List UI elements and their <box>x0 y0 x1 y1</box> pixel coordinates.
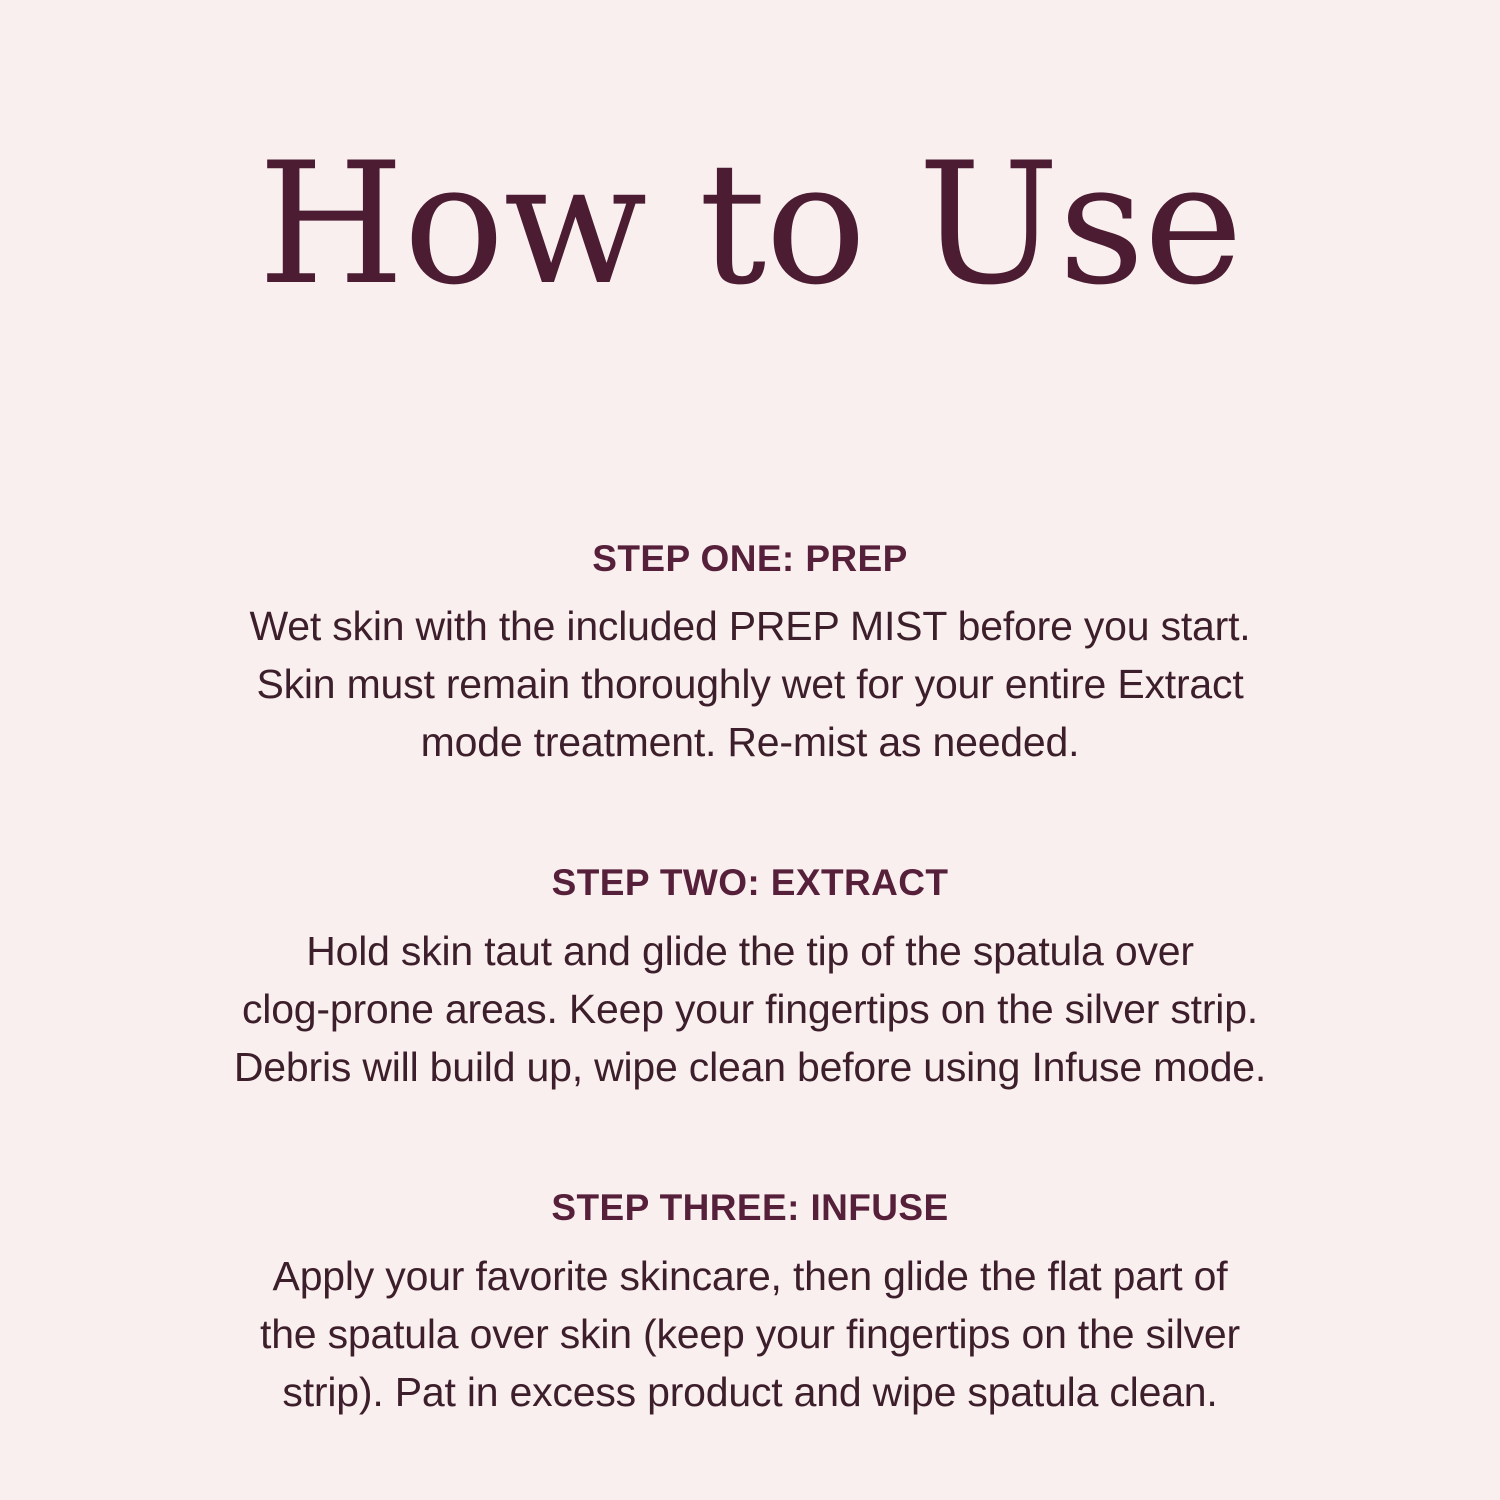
step-one-heading: STEP ONE: PREP <box>130 539 1370 580</box>
page-title: How to Use <box>258 140 1242 308</box>
step-block-one: STEP ONE: PREP Wet skin with the include… <box>130 539 1370 772</box>
step-two-body-line-1: Hold skin taut and glide the tip of the … <box>130 922 1370 980</box>
step-three-body-line-3: strip). Pat in excess product and wipe s… <box>130 1363 1370 1421</box>
step-one-body: Wet skin with the included PREP MIST bef… <box>130 597 1370 771</box>
step-one-body-line-2: Skin must remain thoroughly wet for your… <box>130 655 1370 713</box>
step-block-three: STEP THREE: INFUSE Apply your favorite s… <box>130 1188 1370 1421</box>
step-one-body-line-1: Wet skin with the included PREP MIST bef… <box>130 597 1370 655</box>
step-one-body-line-3: mode treatment. Re-mist as needed. <box>130 713 1370 771</box>
step-two-body-line-2: clog-prone areas. Keep your fingertips o… <box>130 980 1370 1038</box>
step-two-heading: STEP TWO: EXTRACT <box>130 863 1370 904</box>
step-two-body: Hold skin taut and glide the tip of the … <box>130 922 1370 1096</box>
step-two-body-line-3: Debris will build up, wipe clean before … <box>130 1038 1370 1096</box>
how-to-use-panel: How to Use STEP ONE: PREP Wet skin with … <box>0 0 1500 1500</box>
step-three-body-line-1: Apply your favorite skincare, then glide… <box>130 1247 1370 1305</box>
step-three-body-line-2: the spatula over skin (keep your fingert… <box>130 1305 1370 1363</box>
step-three-heading: STEP THREE: INFUSE <box>130 1188 1370 1229</box>
step-three-body: Apply your favorite skincare, then glide… <box>130 1247 1370 1421</box>
step-block-two: STEP TWO: EXTRACT Hold skin taut and gli… <box>130 863 1370 1096</box>
steps-list: STEP ONE: PREP Wet skin with the include… <box>130 539 1370 1421</box>
